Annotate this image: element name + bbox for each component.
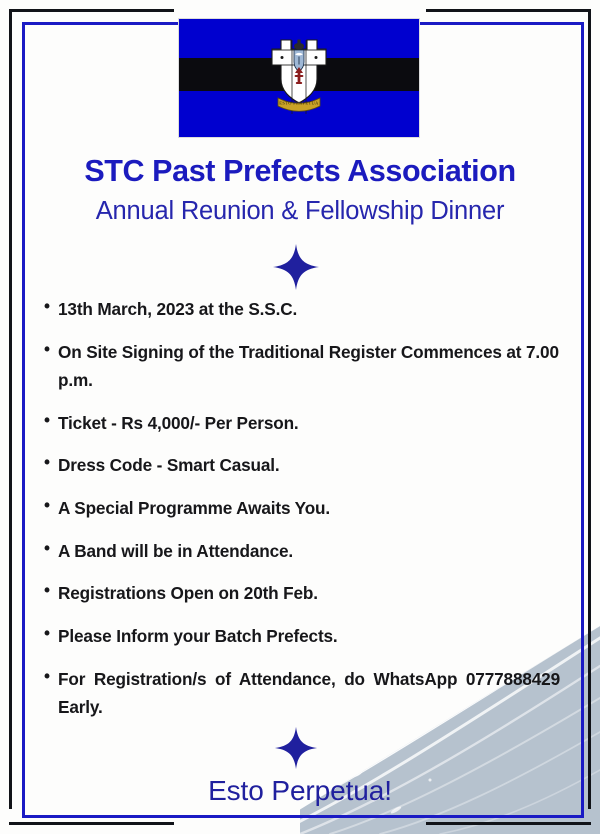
footer-motto: Esto Perpetua! — [0, 775, 600, 807]
four-pointed-star-icon — [272, 243, 320, 291]
list-item-text: Registrations Open on 20th Feb. — [58, 579, 560, 607]
list-item: • Ticket - Rs 4,000/- Per Person. — [44, 409, 560, 437]
frame-left-vertical — [9, 9, 12, 809]
list-item-text: Please Inform your Batch Prefects. — [58, 622, 560, 650]
list-item: • A Special Programme Awaits You. — [44, 494, 560, 522]
list-item-text: For Registration/s of Attendance, do Wha… — [58, 665, 560, 721]
list-item-text: Ticket - Rs 4,000/- Per Person. — [58, 409, 560, 437]
list-item: • Registrations Open on 20th Feb. — [44, 579, 560, 607]
list-item: • Please Inform your Batch Prefects. — [44, 622, 560, 650]
bullet-glyph: • — [44, 494, 58, 517]
bullet-glyph: • — [44, 338, 58, 361]
bullet-glyph: • — [44, 295, 58, 318]
list-item: • For Registration/s of Attendance, do W… — [44, 665, 560, 721]
bullet-glyph: • — [44, 579, 58, 602]
crest-motto: ESTO PERPETUA — [279, 100, 319, 105]
frame-top-right-horizontal — [426, 9, 591, 12]
list-item-text: 13th March, 2023 at the S.S.C. — [58, 295, 560, 323]
frame-top-left-horizontal — [9, 9, 174, 12]
page-subtitle: Annual Reunion & Fellowship Dinner — [0, 197, 600, 226]
bullet-glyph: • — [44, 622, 58, 645]
event-flyer: ESTO PERPETUA STC Past Prefects Associat… — [0, 0, 600, 834]
bullet-glyph: • — [44, 665, 58, 688]
list-item-text: Dress Code - Smart Casual. — [58, 451, 560, 479]
bullet-glyph: • — [44, 451, 58, 474]
event-details-list: • 13th March, 2023 at the S.S.C. • On Si… — [44, 295, 560, 736]
list-item: • Dress Code - Smart Casual. — [44, 451, 560, 479]
list-item: • 13th March, 2023 at the S.S.C. — [44, 295, 560, 323]
list-item-text: A Band will be in Attendance. — [58, 537, 560, 565]
list-item: • On Site Signing of the Traditional Reg… — [44, 338, 560, 394]
frame-bottom-right-horizontal — [426, 822, 591, 825]
frame-bottom-left-horizontal — [9, 822, 174, 825]
frame-right-vertical — [588, 9, 591, 809]
list-item-text: A Special Programme Awaits You. — [58, 494, 560, 522]
list-item: • A Band will be in Attendance. — [44, 537, 560, 565]
stc-crest-icon: ESTO PERPETUA — [268, 36, 330, 120]
stc-school-flag: ESTO PERPETUA — [178, 18, 420, 138]
bullet-glyph: • — [44, 409, 58, 432]
bullet-glyph: • — [44, 537, 58, 560]
page-title: STC Past Prefects Association — [0, 154, 600, 189]
list-item-text: On Site Signing of the Traditional Regis… — [58, 338, 560, 394]
four-pointed-star-icon — [274, 726, 318, 770]
